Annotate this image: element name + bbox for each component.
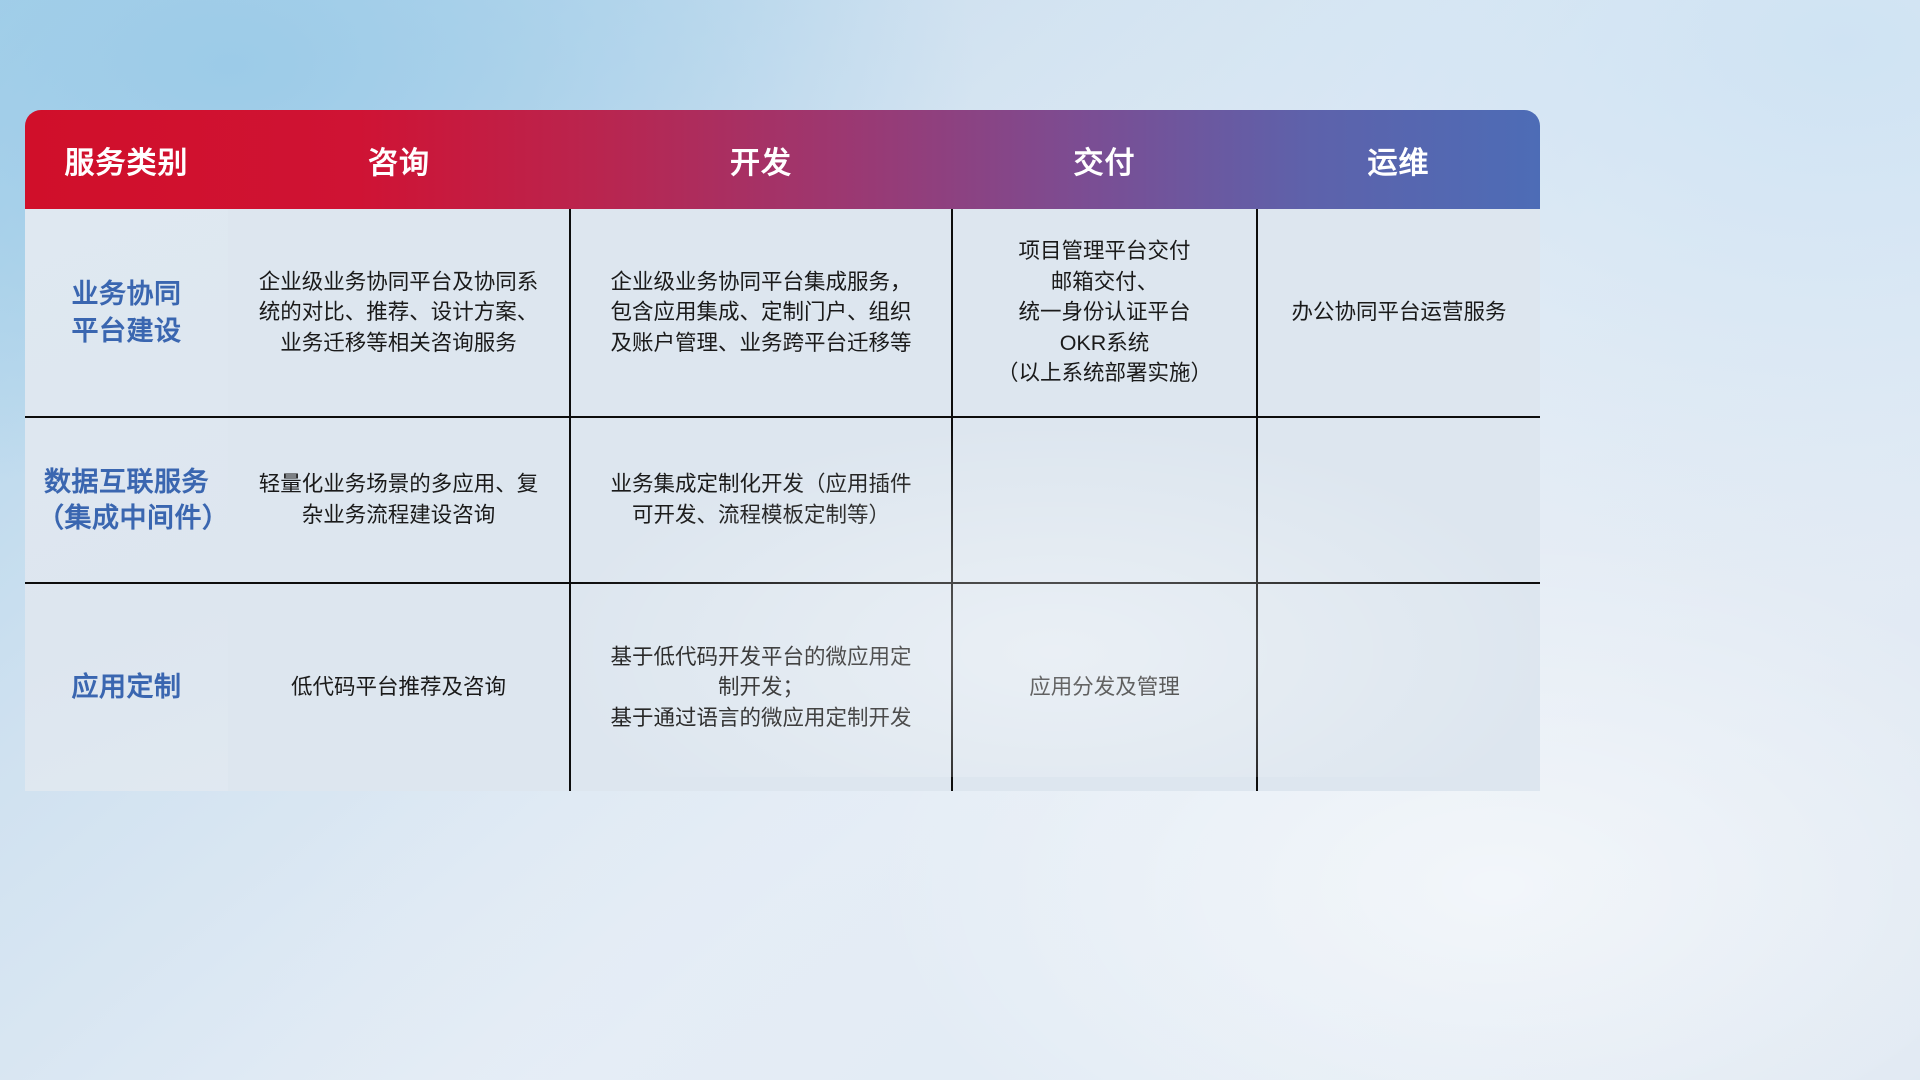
service-matrix-table-wrapper: 服务类别 咨询 开发 交付 运维 业务协同 平台建设 企业级业务协同平台及协同系… [25,110,1540,791]
cell-consulting: 企业级业务协同平台及协同系 统的对比、推荐、设计方案、 业务迁移等相关咨询服务 [228,209,570,417]
table-header: 服务类别 咨询 开发 交付 运维 [25,110,1540,209]
cell-development: 企业级业务协同平台集成服务， 包含应用集成、定制门户、组织 及账户管理、业务跨平… [570,209,952,417]
service-matrix-table: 服务类别 咨询 开发 交付 运维 业务协同 平台建设 企业级业务协同平台及协同系… [25,110,1540,791]
table-row: 应用定制 低代码平台推荐及咨询 基于低代码开发平台的微应用定 制开发； 基于通过… [25,583,1540,791]
cell-operations [1257,417,1540,583]
table-header-row: 服务类别 咨询 开发 交付 运维 [25,110,1540,209]
column-header-operations: 运维 [1257,110,1540,209]
row-category-label: 业务协同 平台建设 [25,209,228,417]
row-category-label: 数据互联服务 （集成中间件） [25,417,228,583]
cell-delivery: 应用分发及管理 [952,583,1257,791]
column-header-development: 开发 [570,110,952,209]
row-category-label: 应用定制 [25,583,228,791]
cell-delivery [952,417,1257,583]
cell-operations: 办公协同平台运营服务 [1257,209,1540,417]
cell-consulting: 低代码平台推荐及咨询 [228,583,570,791]
table-row: 数据互联服务 （集成中间件） 轻量化业务场景的多应用、复 杂业务流程建设咨询 业… [25,417,1540,583]
column-header-service-category: 服务类别 [25,110,228,209]
cell-consulting: 轻量化业务场景的多应用、复 杂业务流程建设咨询 [228,417,570,583]
cell-development: 基于低代码开发平台的微应用定 制开发； 基于通过语言的微应用定制开发 [570,583,952,791]
table-row: 业务协同 平台建设 企业级业务协同平台及协同系 统的对比、推荐、设计方案、 业务… [25,209,1540,417]
cell-delivery: 项目管理平台交付 邮箱交付、 统一身份认证平台 OKR系统 （以上系统部署实施） [952,209,1257,417]
cell-development: 业务集成定制化开发（应用插件 可开发、流程模板定制等） [570,417,952,583]
column-header-delivery: 交付 [952,110,1257,209]
column-header-consulting: 咨询 [228,110,570,209]
table-body: 业务协同 平台建设 企业级业务协同平台及协同系 统的对比、推荐、设计方案、 业务… [25,209,1540,791]
cell-operations [1257,583,1540,791]
